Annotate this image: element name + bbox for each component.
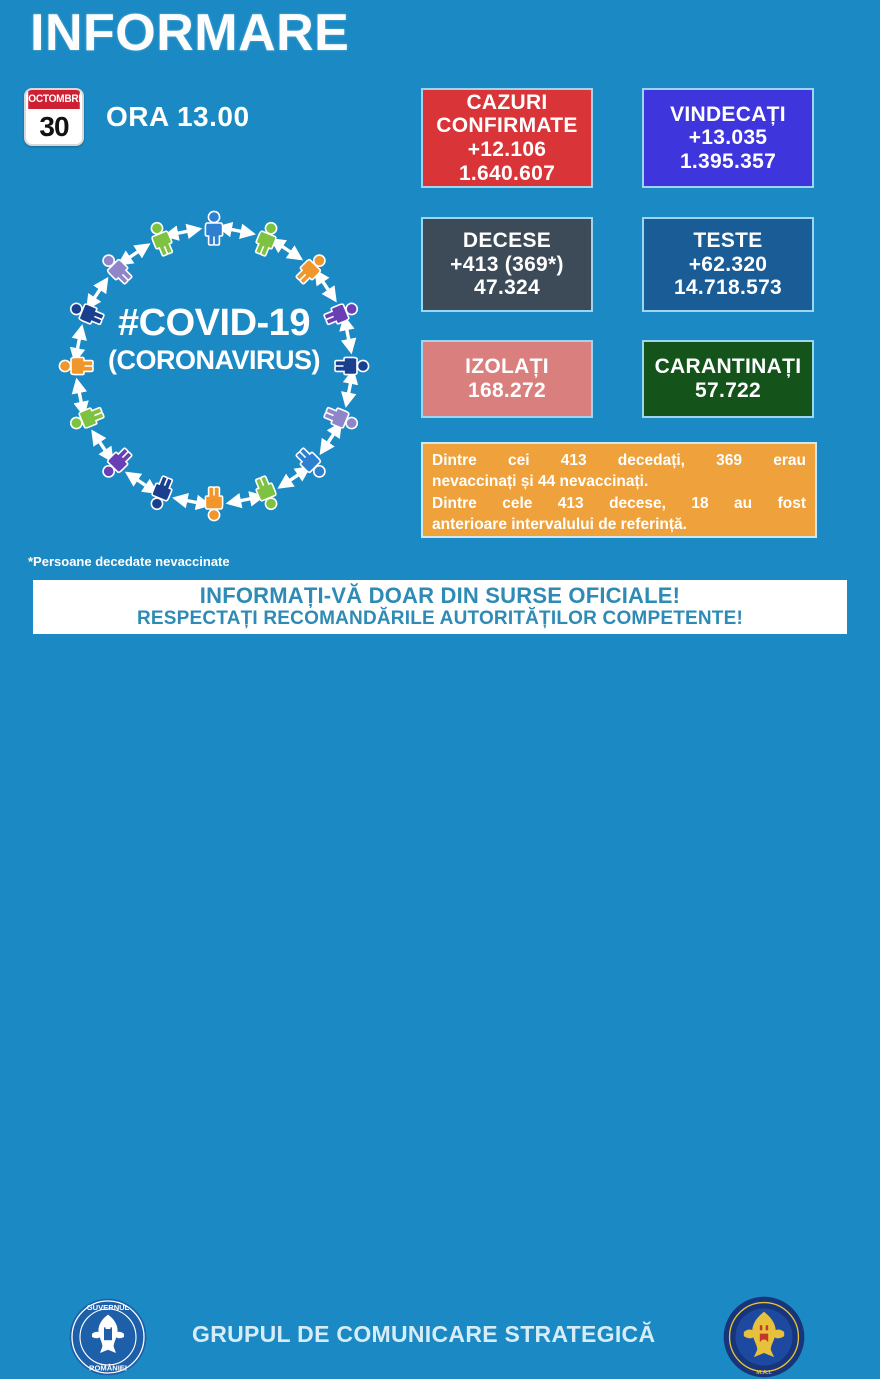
stat-label-2: CONFIRMATE (423, 114, 591, 138)
ring-arrow (346, 327, 351, 351)
note-box: Dintre cei 413 decedați, 369 erau nevacc… (421, 442, 817, 538)
stat-total: 14.718.573 (644, 276, 812, 300)
ring-person-figure (68, 404, 106, 433)
note-line-2: nevaccinați și 44 nevaccinați. (432, 471, 806, 492)
stat-label: IZOLAȚI (423, 355, 591, 379)
date-row: OCTOMBRIE 30 ORA 13.00 (24, 88, 250, 146)
stat-label: CARANTINAȚI (644, 355, 812, 379)
ring-arrow (175, 498, 199, 503)
seal-top-text: GUVERNUL (87, 1303, 130, 1312)
covid-ring-graphic: #COVID-19 (CORONAVIRUS) (34, 186, 394, 546)
ring-arrow (93, 279, 107, 299)
ring-arrow (346, 381, 351, 405)
ring-arrow (77, 327, 82, 351)
ring-person-figure (59, 357, 93, 374)
ring-person-figure (322, 404, 360, 433)
ring-person-figure (205, 487, 222, 521)
ring-arrow (175, 229, 199, 234)
ring-arrow (127, 245, 147, 259)
stat-card-carantinati[interactable]: CARANTINAȚI 57.722 (642, 340, 814, 418)
stat-total: 47.324 (423, 276, 591, 300)
ring-people (59, 211, 368, 520)
note-line-3: Dintre cele 413 decese, 18 au fost (432, 493, 806, 514)
stat-total: 57.722 (644, 379, 812, 403)
stat-label: TESTE (644, 229, 812, 253)
stat-total: 1.640.607 (423, 162, 591, 186)
ring-arrow (127, 473, 147, 487)
mai-seal-label: M.A.I. (756, 1370, 772, 1376)
ring-arrow (321, 279, 335, 299)
ring-arrow (77, 381, 82, 405)
stat-total: 1.395.357 (644, 150, 812, 174)
calendar-day: 30 (26, 109, 82, 144)
stat-delta: +12.106 (423, 138, 591, 162)
ring-arrow (93, 432, 107, 452)
stat-label: VINDECAȚI (644, 103, 812, 127)
page-title: INFORMARE (30, 6, 349, 61)
banner-line-1: INFORMAȚI-VĂ DOAR DIN SURSE OFICIALE! (200, 583, 680, 608)
note-line-1: Dintre cei 413 decedați, 369 erau (432, 450, 806, 471)
footnote-text: *Persoane decedate nevaccinate (28, 554, 230, 569)
ring-arrow (280, 245, 300, 259)
ring-arrow (280, 473, 300, 487)
stat-label: DECESE (423, 229, 591, 253)
calendar-month: OCTOMBRIE (28, 90, 80, 109)
note-line-4: anterioare intervalului de referință. (432, 514, 806, 535)
stat-card-izolati[interactable]: IZOLAȚI 168.272 (421, 340, 593, 418)
ring-person-figure (252, 220, 281, 258)
stat-label: CAZURI (423, 91, 591, 115)
ring-person-figure (147, 220, 176, 258)
ring-person-figure (335, 357, 369, 374)
footer-organization-label: GRUPUL DE COMUNICARE STRATEGICĂ (192, 1321, 655, 1348)
hour-label: ORA 13.00 (106, 101, 250, 133)
stat-card-decese[interactable]: DECESE +413 (369*) 47.324 (421, 217, 593, 312)
ring-person-figure (68, 299, 106, 328)
banner-line-2: RESPECTAȚI RECOMANDĂRILE AUTORITĂȚILOR C… (137, 608, 743, 631)
footer: GUVERNUL ROMÂNIEI M.A.I. GRUPUL DE COMUN… (0, 645, 880, 739)
ring-person-figure (205, 211, 222, 245)
seal-bottom-text: ROMÂNIEI (89, 1364, 127, 1373)
ring-svg (34, 186, 394, 546)
ring-person-figure (147, 474, 176, 512)
ring-person-figure (322, 299, 360, 328)
official-sources-banner: INFORMAȚI-VĂ DOAR DIN SURSE OFICIALE! RE… (33, 580, 847, 634)
stat-delta: +413 (369*) (423, 253, 591, 277)
ring-arrow (321, 432, 335, 452)
calendar-icon: OCTOMBRIE 30 (24, 88, 84, 146)
ring-arrow (229, 498, 253, 503)
stat-total: 168.272 (423, 379, 591, 403)
ring-arrow (229, 229, 253, 234)
stat-card-vindecati[interactable]: VINDECAȚI +13.035 1.395.357 (642, 88, 814, 188)
stat-delta: +13.035 (644, 126, 812, 150)
stat-delta: +62.320 (644, 253, 812, 277)
ring-person-figure (252, 474, 281, 512)
mai-seal-icon: M.A.I. (722, 1295, 806, 1379)
stat-card-teste[interactable]: TESTE +62.320 14.718.573 (642, 217, 814, 312)
stat-card-cazuri-confirmate[interactable]: CAZURI CONFIRMATE +12.106 1.640.607 (421, 88, 593, 188)
guvernul-romaniei-seal-icon: GUVERNUL ROMÂNIEI (68, 1297, 148, 1377)
